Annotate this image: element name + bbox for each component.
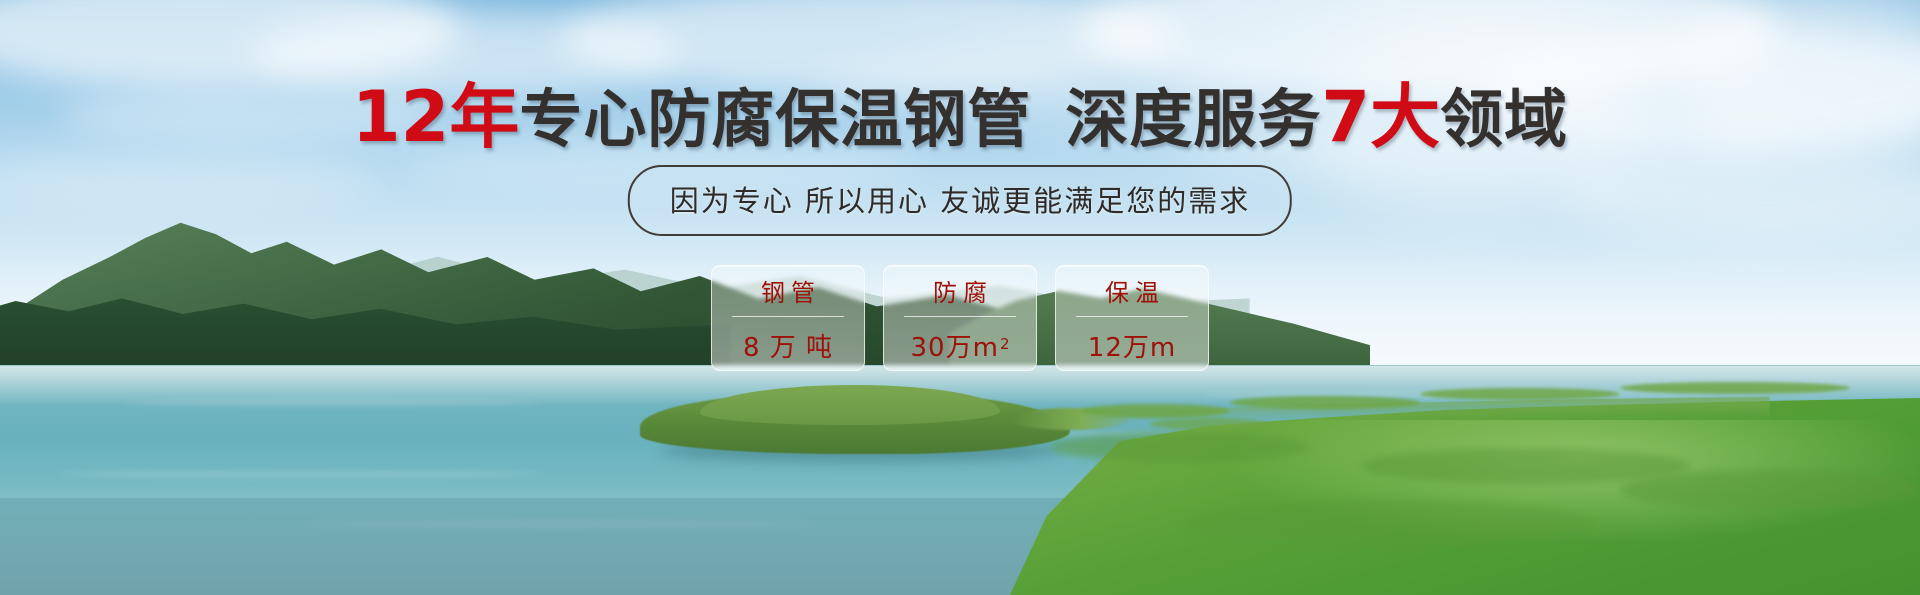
tagline-pill: 因为专心 所以用心 友诚更能满足您的需求 (628, 165, 1292, 236)
headline-main-text: 专心防腐保温钢管 (519, 83, 1031, 156)
stat-card-steel-pipe[interactable]: 钢管 8 万 吨 (711, 265, 865, 371)
reed-patch (1080, 404, 1230, 418)
stat-card-value: 30万m2 (911, 327, 1010, 364)
headline-years-unit: 年 (449, 76, 519, 158)
stat-card-anticorrosion[interactable]: 防腐 30万m2 (883, 265, 1037, 371)
stat-card-divider (732, 316, 844, 317)
stat-card-title: 钢管 (755, 273, 821, 308)
reed-patch (1420, 388, 1620, 400)
water-deep-area (0, 498, 1180, 595)
headline-fields-unit: 大 (1370, 76, 1440, 158)
headline-fields-number: 7 (1321, 76, 1370, 158)
headline-service-text: 深度服务 (1065, 83, 1321, 156)
grass-texture (1620, 470, 1920, 510)
stat-cards: 钢管 8 万 吨 防腐 30万m2 保温 12万m (711, 265, 1209, 371)
stat-card-value-text: 8 万 吨 (743, 327, 833, 364)
headline-fields-text: 领域 (1440, 83, 1568, 156)
stat-card-value: 12万m (1088, 327, 1176, 364)
stat-card-insulation[interactable]: 保温 12万m (1055, 265, 1209, 371)
stat-card-value-text: 30万m (911, 327, 999, 364)
grass-texture (1360, 448, 1690, 484)
reed-patch (1150, 418, 1270, 430)
reed-patch (1230, 396, 1420, 409)
water-ripple (120, 400, 540, 406)
headline-years-number: 12 (352, 76, 449, 158)
banner-headline: 12年专心防腐保温钢管深度服务7大领域 (0, 82, 1920, 152)
stat-card-title: 防腐 (927, 273, 993, 308)
water-ripple (60, 470, 540, 478)
stat-card-value-text: 12万m (1088, 327, 1176, 364)
reed-patch (1620, 382, 1850, 394)
stat-card-divider (1076, 316, 1188, 317)
hero-banner: 12年专心防腐保温钢管深度服务7大领域 因为专心 所以用心 友诚更能满足您的需求… (0, 0, 1920, 595)
stat-card-divider (904, 316, 1016, 317)
stat-card-value: 8 万 吨 (743, 327, 833, 364)
stat-card-title: 保温 (1099, 273, 1165, 308)
grass-texture (1050, 432, 1310, 462)
grass-texture (1180, 500, 1600, 546)
